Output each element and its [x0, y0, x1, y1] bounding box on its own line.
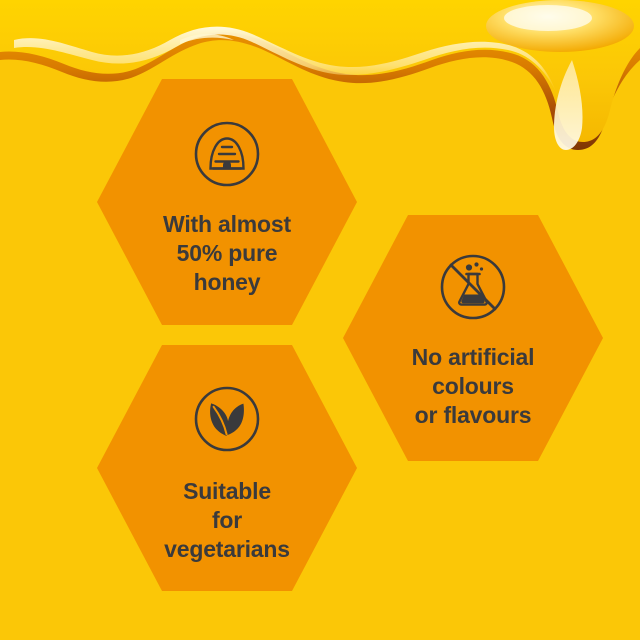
badge-honey: With almost 50% pure honey	[97, 79, 357, 325]
beehive-icon	[193, 120, 261, 188]
leaves-icon	[193, 385, 261, 453]
badge-no-artificial-line-1: No artificial	[363, 343, 583, 372]
badge-vegetarian-line-3: vegetarians	[117, 535, 337, 564]
badge-honey-line-2: 50% pure	[117, 239, 337, 268]
no-artificial-flask-icon	[439, 253, 507, 321]
badge-vegetarian: Suitable for vegetarians	[97, 345, 357, 591]
badge-honey-line-3: honey	[117, 268, 337, 297]
badge-honey-line-1: With almost	[117, 210, 337, 239]
badge-vegetarian-line-2: for	[117, 506, 337, 535]
badge-no-artificial: No artificial colours or flavours	[343, 215, 603, 461]
badge-vegetarian-line-1: Suitable	[117, 477, 337, 506]
badge-honey-text: With almost 50% pure honey	[117, 210, 337, 298]
product-benefits-panel: With almost 50% pure honey No artificial…	[0, 0, 640, 640]
badge-vegetarian-text: Suitable for vegetarians	[117, 477, 337, 565]
badge-no-artificial-text: No artificial colours or flavours	[363, 343, 583, 431]
badge-no-artificial-line-3: or flavours	[363, 401, 583, 430]
badge-no-artificial-line-2: colours	[363, 372, 583, 401]
honey-drip-graphic	[0, 0, 640, 150]
